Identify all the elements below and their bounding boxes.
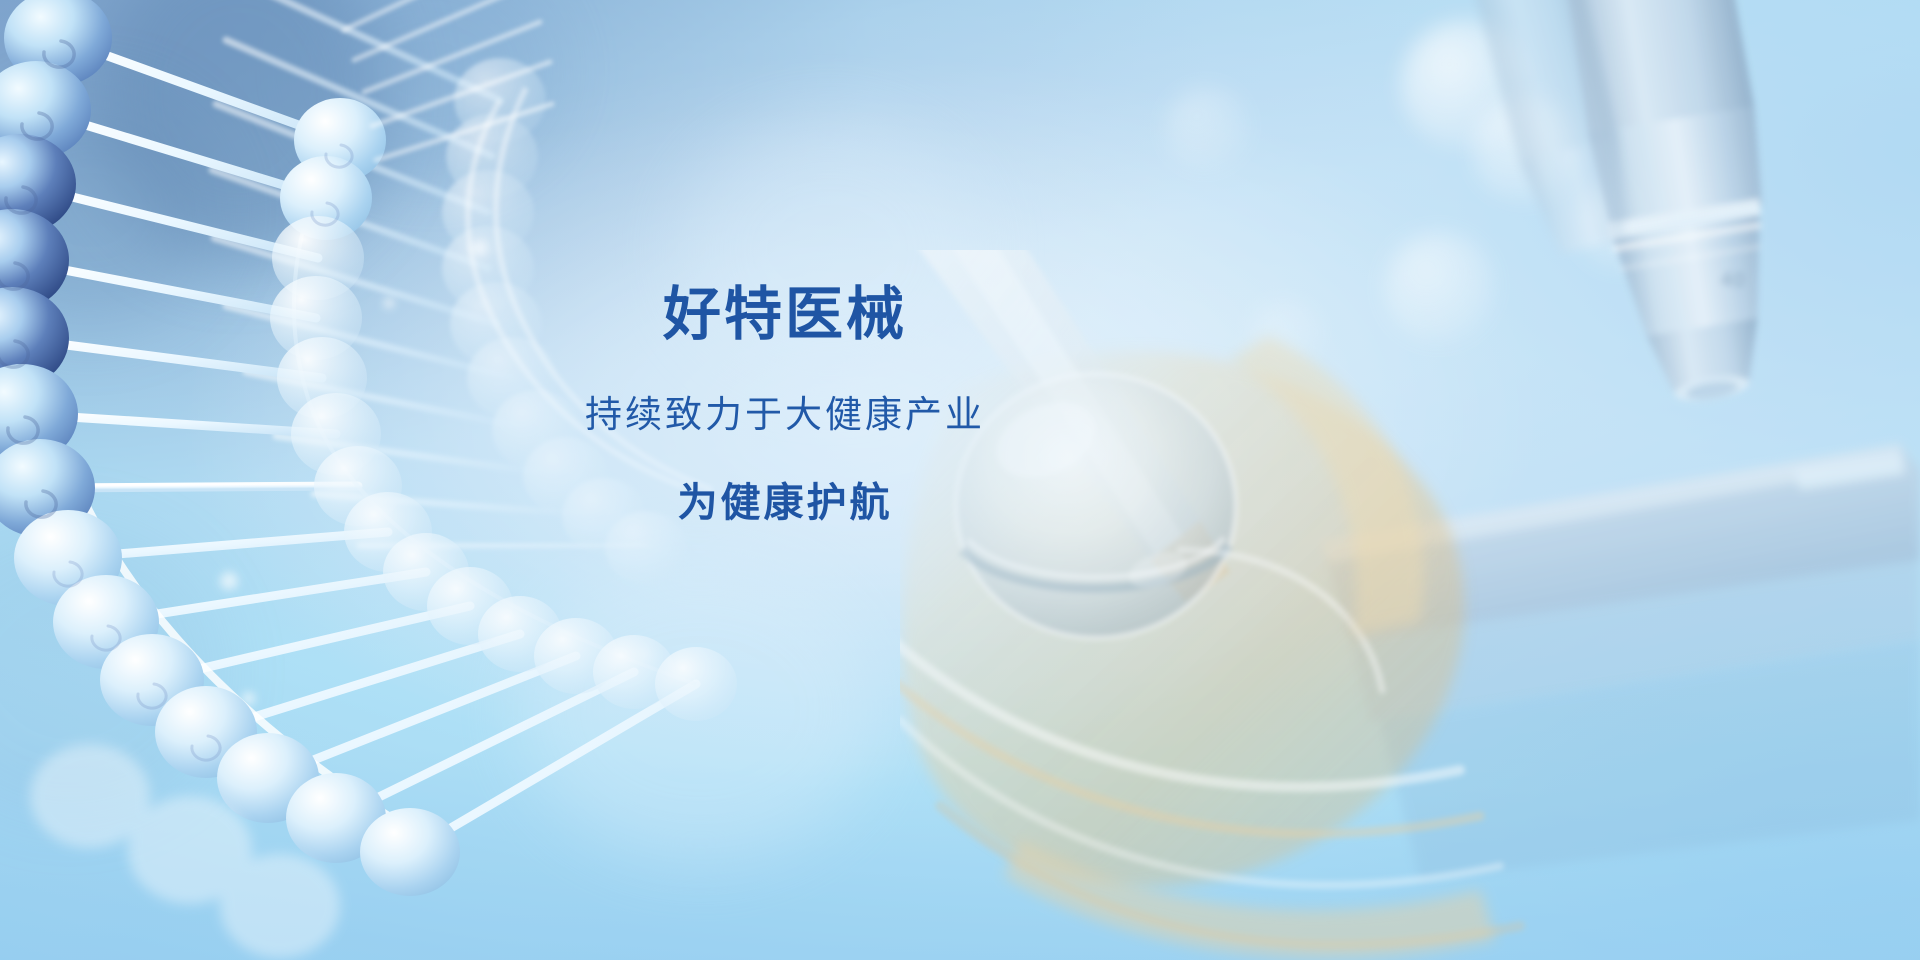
page-subtitle: 持续致力于大健康产业 — [0, 393, 1570, 437]
page-title: 好特医械 — [0, 282, 1570, 347]
hero-copy: 好特医械 持续致力于大健康产业 为健康护航 — [0, 282, 1570, 527]
page-tagline: 为健康护航 — [0, 479, 1570, 527]
hero-banner: 40 — [0, 0, 1920, 960]
